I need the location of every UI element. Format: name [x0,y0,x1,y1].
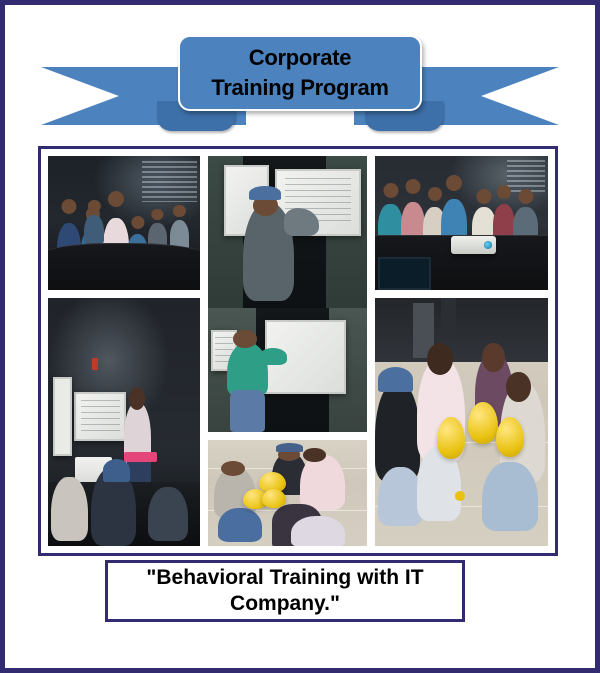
projector-device [451,236,496,253]
desktop-monitor [378,257,430,290]
collage-middle-column [206,154,369,548]
photo-trainer-whiteboard [46,296,202,548]
banner-title-plaque: Corporate Training Program [178,35,422,111]
whiteboard-writers-scene [208,156,367,432]
photo-collage-grid [46,154,550,548]
photo-balloon-activity-right [373,296,550,548]
whiteboard-writer-upper [208,156,367,313]
poster-container: Corporate Training Program [0,0,600,673]
ribbon-banner: Corporate Training Program [5,13,595,135]
conference-table [46,243,202,290]
classroom-scene [48,156,200,290]
balloon-activity-scene-right [375,298,548,546]
projector-session-scene [375,156,548,290]
banner-title-line-1: Corporate [249,43,351,73]
window-blinds [142,161,197,201]
trainer-whiteboard-scene [48,298,200,546]
caption-text: "Behavioral Training with IT Company." [108,565,462,617]
balloon-activity-scene-middle [208,440,367,546]
photo-projector-session [373,154,550,292]
caption-box: "Behavioral Training with IT Company." [105,560,465,622]
photo-collage-frame [38,146,558,556]
whiteboard-writer-lower [208,308,367,432]
photo-whiteboard-writers [206,154,369,434]
projector-lens [484,241,493,249]
banner-title-line-2: Training Program [211,73,388,103]
photo-classroom-discussion [46,154,202,292]
photo-balloon-activity-middle [206,438,369,548]
